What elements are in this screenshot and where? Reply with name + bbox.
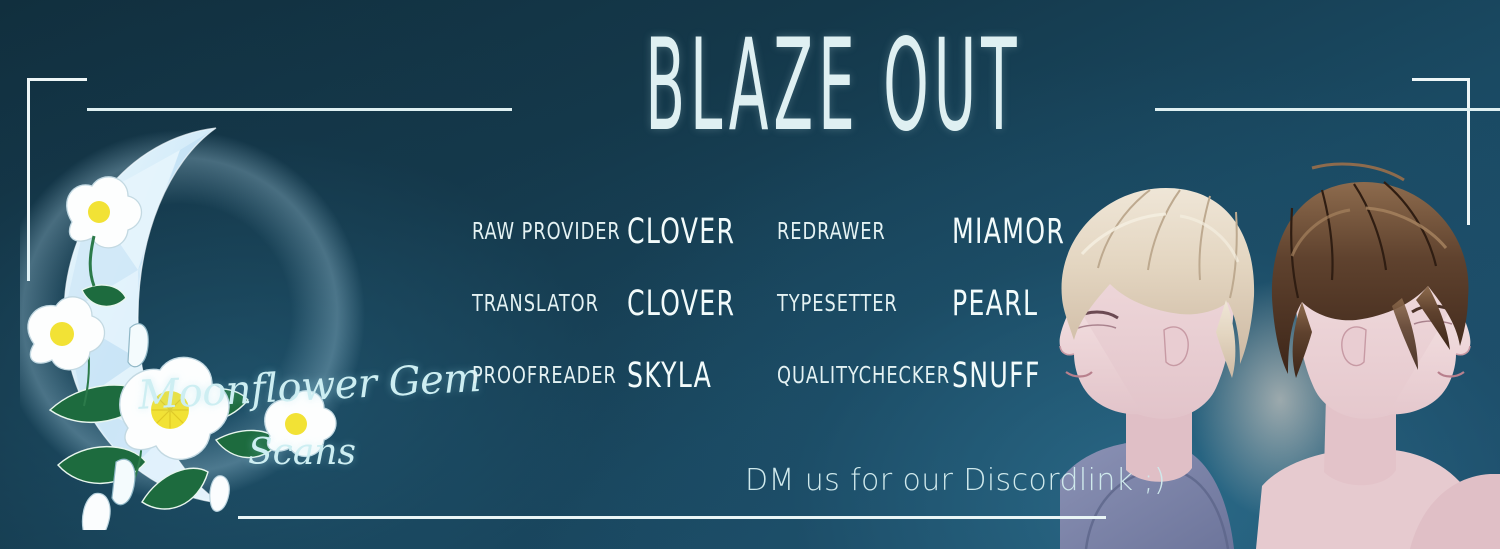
credit-label: RAW PROVIDER: [472, 219, 605, 245]
discord-note: DM us for our Discordlink ;): [745, 463, 1166, 498]
banner-artwork: BLAZE OUT: [0, 0, 1500, 549]
credit-value: CLOVER: [627, 212, 747, 252]
credits-list: RAW PROVIDER CLOVER REDRAWER MIAMOR TRAN…: [472, 196, 1072, 412]
credit-label: TYPESETTER: [777, 291, 928, 317]
logo: Moonflower Gem Scans: [20, 110, 420, 530]
page-title: BLAZE OUT: [634, 22, 1033, 149]
title-rule-right: [1155, 108, 1500, 111]
bottom-rule: [238, 516, 1106, 519]
credit-value: SKYLA: [627, 356, 747, 396]
credit-label: QUALITYCHECKER: [777, 363, 928, 389]
credit-label: REDRAWER: [777, 219, 928, 245]
credit-label: PROOFREADER: [472, 363, 605, 389]
credit-value: CLOVER: [627, 284, 747, 324]
logo-name-line2: Scans: [248, 432, 356, 473]
credit-label: TRANSLATOR: [472, 291, 605, 317]
